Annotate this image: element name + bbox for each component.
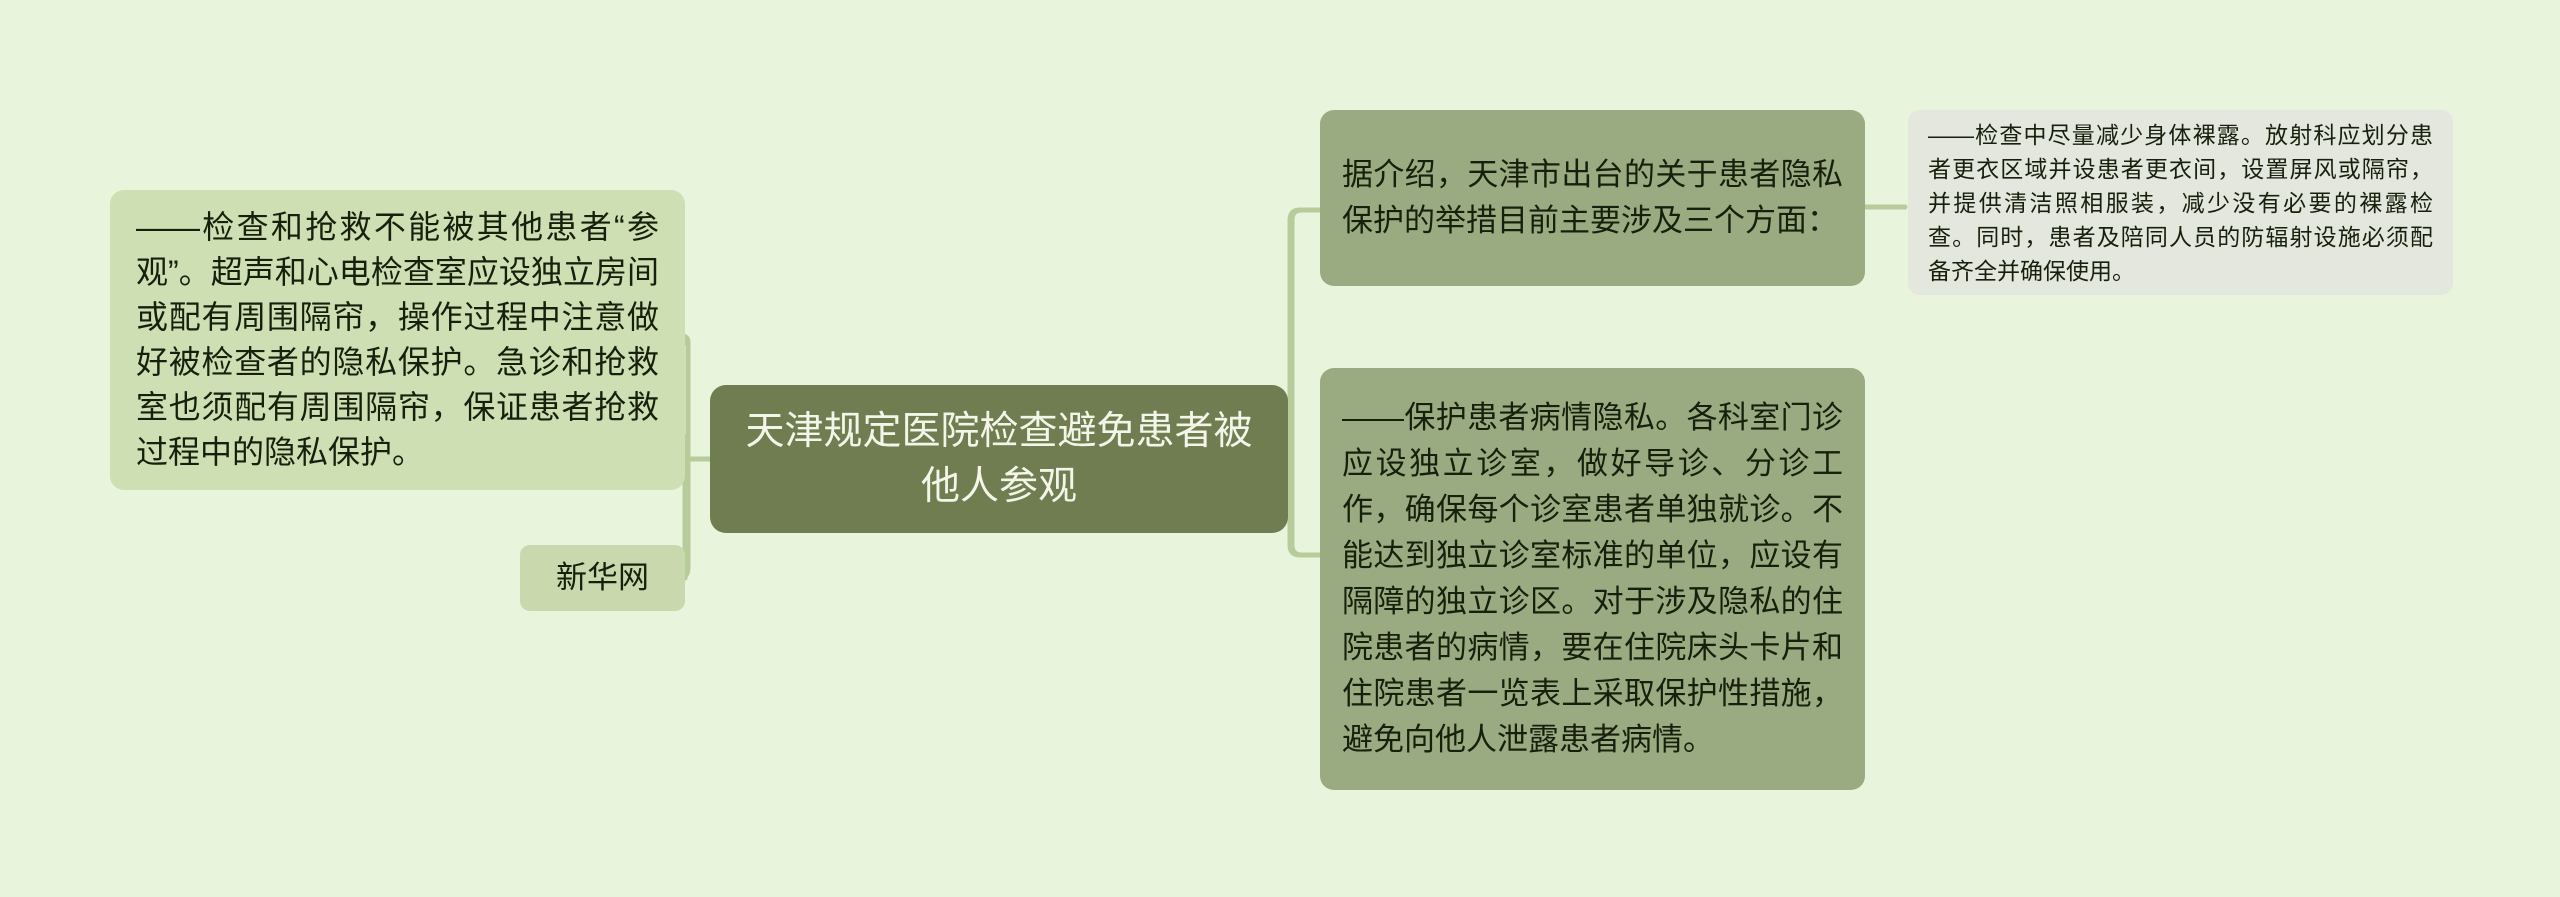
right-intro-node[interactable]: 据介绍，天津市出台的关于患者隐私保护的举措目前主要涉及三个方面： [1320, 110, 1865, 286]
source-node[interactable]: 新华网 [520, 545, 685, 611]
right-intro-node-label: 据介绍，天津市出台的关于患者隐私保护的举措目前主要涉及三个方面： [1320, 136, 1865, 260]
left-detail-node-label: ——检查和抢救不能被其他患者“参观”。超声和心电检查室应设独立房间或配有周围隔帘… [110, 187, 685, 493]
connector-right-trunk [1290, 210, 1320, 555]
right-measure-node-label: ——保护患者病情隐私。各科室门诊应设独立诊室，做好导诊、分诊工作，确保每个诊室患… [1320, 379, 1865, 779]
far-right-detail-node-label: ——检查中尽量减少身体裸露。放射科应划分患者更衣区域并设患者更衣间，设置屏风或隔… [1908, 104, 2453, 302]
connector-right-trunk-main [1292, 210, 1322, 555]
source-node-label: 新华网 [520, 558, 685, 598]
far-right-detail-node[interactable]: ——检查中尽量减少身体裸露。放射科应划分患者更衣区域并设患者更衣间，设置屏风或隔… [1908, 110, 2453, 295]
root-node[interactable]: 天津规定医院检查避免患者被他人参观 [710, 385, 1288, 533]
mindmap-canvas: 天津规定医院检查避免患者被他人参观 ——检查和抢救不能被其他患者“参观”。超声和… [0, 0, 2560, 897]
right-measure-node[interactable]: ——保护患者病情隐私。各科室门诊应设独立诊室，做好导诊、分诊工作，确保每个诊室患… [1320, 368, 1865, 790]
left-detail-node[interactable]: ——检查和抢救不能被其他患者“参观”。超声和心电检查室应设独立房间或配有周围隔帘… [110, 190, 685, 490]
root-node-label: 天津规定医院检查避免患者被他人参观 [710, 404, 1288, 514]
